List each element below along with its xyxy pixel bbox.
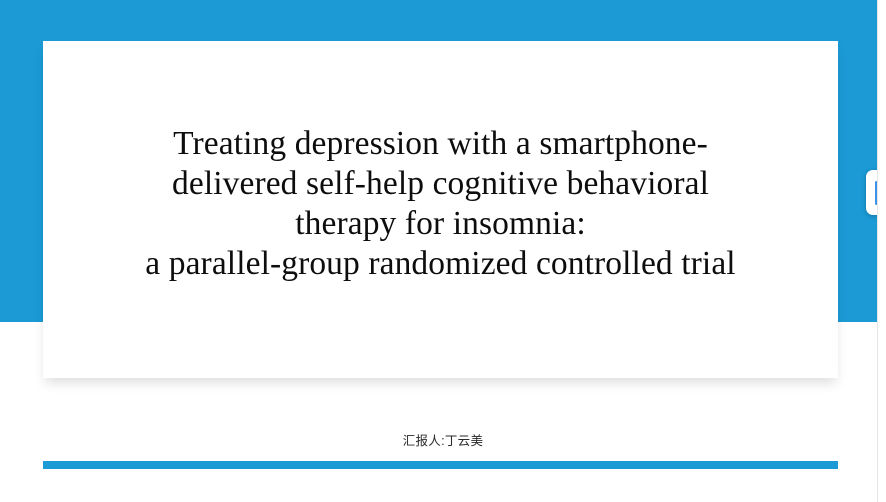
- bottom-accent-rule: [43, 461, 838, 469]
- accent-band-left: [0, 0, 43, 322]
- title-line-3: therapy for insomnia:: [67, 204, 814, 244]
- vertical-scrollbar[interactable]: [877, 0, 886, 502]
- accent-band-right: [838, 0, 877, 322]
- title-line-2: delivered self-help cognitive behavioral: [67, 164, 814, 204]
- title-line-4: a parallel-group randomized controlled t…: [67, 244, 814, 284]
- presentation-slide: Treating depression with a smartphone- d…: [0, 0, 886, 502]
- title-card: Treating depression with a smartphone- d…: [43, 41, 838, 378]
- title-line-1: Treating depression with a smartphone-: [67, 124, 814, 164]
- slide-title: Treating depression with a smartphone- d…: [43, 124, 838, 284]
- accent-band-top: [0, 0, 877, 41]
- presenter-label: 汇报人:丁云美: [0, 430, 886, 449]
